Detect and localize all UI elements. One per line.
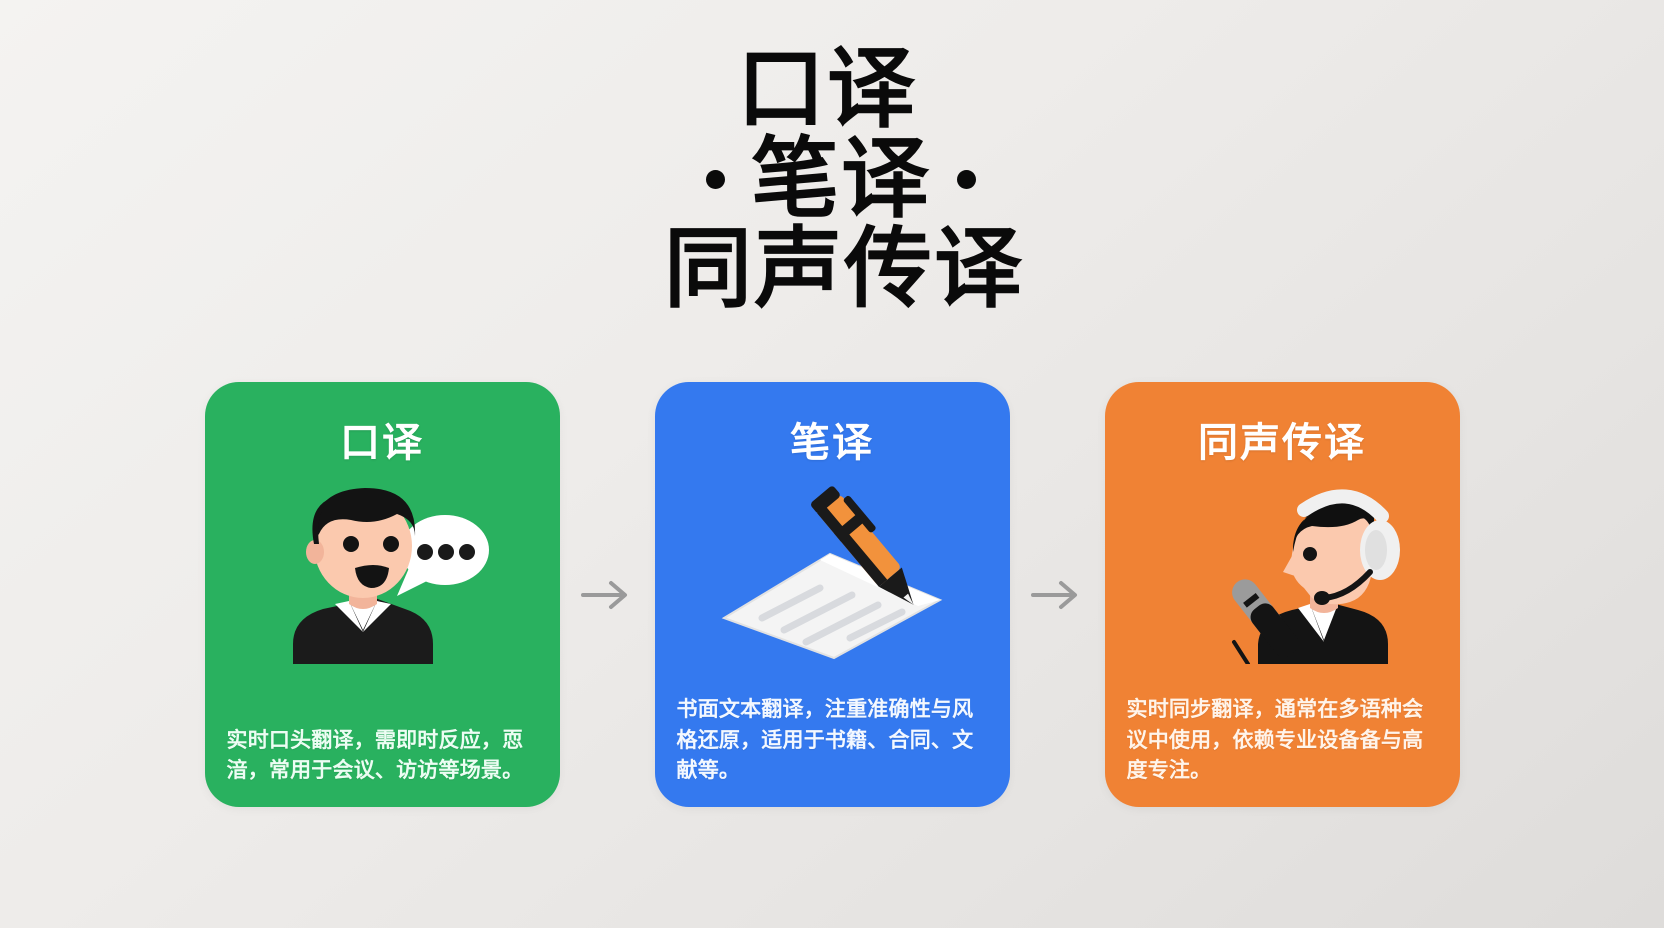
card-simultaneous-description: 实时同步翻译，通常在多语种会议中使用，依赖专业设备备与高度专注。	[1127, 695, 1442, 787]
title-line-interpretation: 口译	[0, 46, 1664, 132]
bullet-dot-left-icon	[706, 170, 725, 189]
card-translation[interactable]: 笔译	[655, 382, 1010, 807]
title-line-translation-text: 笔译	[751, 136, 931, 222]
card-translation-title: 笔译	[655, 410, 1010, 468]
headset-interpreter-icon	[1105, 468, 1460, 664]
title-line-simultaneous: 同声传译	[24, 226, 1664, 312]
page-title: 口译 笔译 同声传译	[0, 46, 1664, 313]
card-simultaneous-title: 同声传译	[1105, 410, 1460, 468]
arrow-green-to-blue-icon	[560, 382, 655, 807]
card-interpretation-title: 口译	[205, 410, 560, 468]
pen-and-paper-icon	[655, 468, 1010, 664]
speaking-person-icon	[205, 468, 560, 664]
title-line-translation: 笔译	[18, 136, 1664, 222]
card-translation-description: 书面文本翻译，注重准确性与风格还原，适用于书籍、合同、文献等。	[677, 695, 992, 787]
card-simultaneous-interpretation[interactable]: 同声传译	[1105, 382, 1460, 807]
arrow-blue-to-orange-icon	[1010, 382, 1105, 807]
card-interpretation-description: 实时口头翻译，需即时反应，恧湆，常用于会议、访访等场景。	[227, 726, 542, 787]
cards-row: 口译	[0, 382, 1664, 812]
card-interpretation[interactable]: 口译	[205, 382, 560, 807]
infographic-canvas: 口译 笔译 同声传译 口译	[0, 0, 1664, 928]
bullet-dot-right-icon	[957, 170, 976, 189]
